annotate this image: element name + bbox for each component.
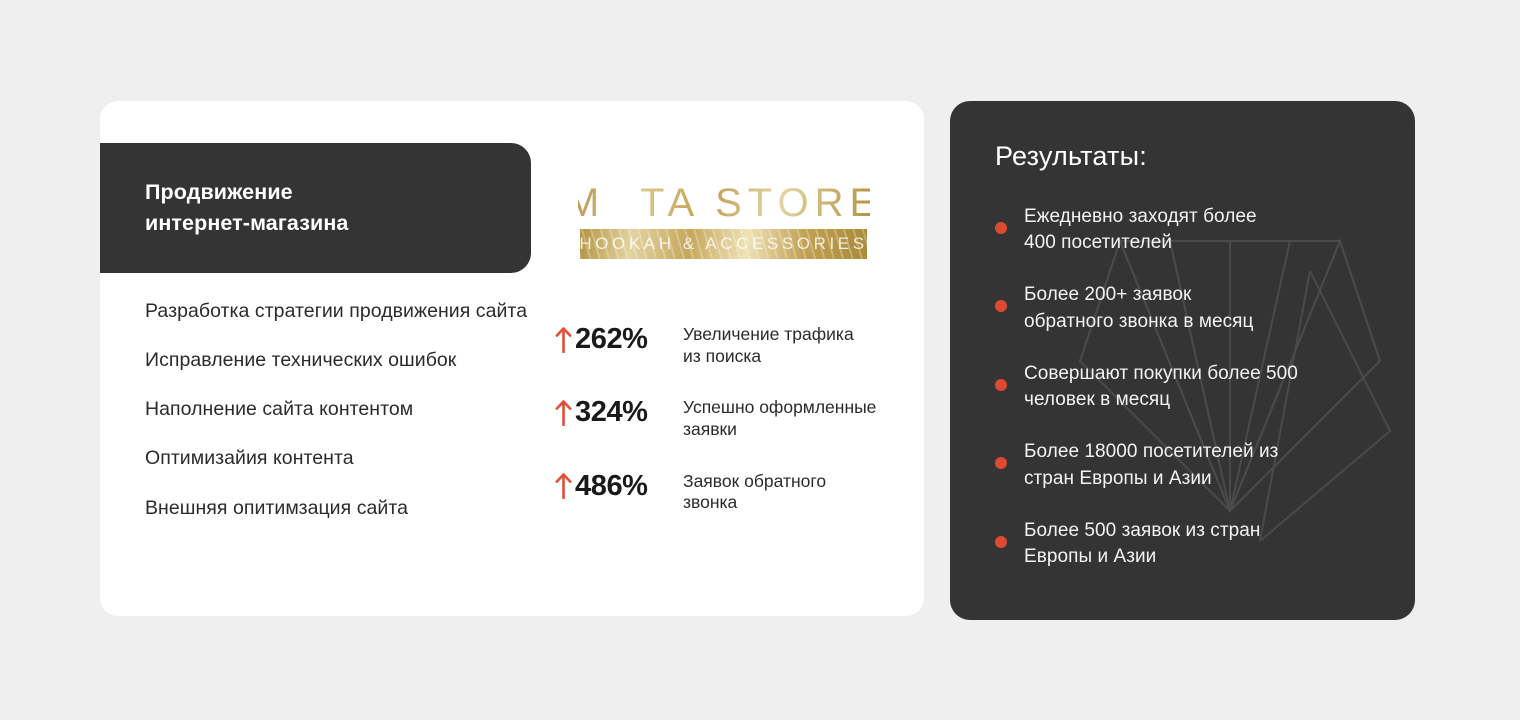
stat-figure: 262% xyxy=(555,323,683,354)
arrow-up-icon xyxy=(555,327,572,353)
stat-label: Увеличение трафика из поиска xyxy=(683,323,854,367)
case-header-title: Продвижение интернет-магазина xyxy=(100,177,368,238)
logo-gold-band: HOOKAH & ACCESSORIES xyxy=(580,229,867,259)
logo-letter-m: M xyxy=(566,181,605,226)
stat-value: 262% xyxy=(575,325,648,354)
stat-value: 486% xyxy=(575,472,648,501)
result-text: Ежедневно заходят более 400 посетителей xyxy=(1024,204,1257,256)
list-item: Совершают покупки более 500 человек в ме… xyxy=(995,361,1385,413)
bullet-dot-icon xyxy=(995,457,1007,469)
bullet-dot-icon xyxy=(995,536,1007,548)
list-item: Исправление технических ошибок xyxy=(145,348,545,373)
logo-letters-rest: TA STORE xyxy=(640,181,882,226)
results-panel: Результаты: Ежедневно заходят более 400 … xyxy=(950,101,1415,620)
bullet-dot-icon xyxy=(995,300,1007,312)
list-item: Более 18000 посетителей из стран Европы … xyxy=(995,439,1385,491)
stat-row: 486% Заявок обратного звонка xyxy=(555,470,915,514)
list-item: Более 200+ заявок обратного звонка в мес… xyxy=(995,282,1385,334)
stat-figure: 486% xyxy=(555,470,683,501)
case-header-banner: Продвижение интернет-магазина xyxy=(100,143,531,273)
arrow-up-icon xyxy=(555,400,572,426)
stat-label: Успешно оформленные заявки xyxy=(683,396,876,440)
services-list: Разработка стратегии продвижения сайта И… xyxy=(145,299,545,521)
list-item: Более 500 заявок из стран Европы и Азии xyxy=(995,518,1385,570)
results-title: Результаты: xyxy=(995,141,1147,172)
logo-letter-r-flipped: R xyxy=(605,181,640,226)
list-item: Внешняя опитимзация сайта xyxy=(145,496,545,521)
list-item: Разработка стратегии продвижения сайта xyxy=(145,299,545,324)
result-text: Более 18000 посетителей из стран Европы … xyxy=(1024,439,1278,491)
stat-row: 324% Успешно оформленные заявки xyxy=(555,396,915,440)
bullet-dot-icon xyxy=(995,379,1007,391)
stat-label: Заявок обратного звонка xyxy=(683,470,826,514)
stat-figure: 324% xyxy=(555,396,683,427)
list-item: Наполнение сайта контентом xyxy=(145,397,545,422)
bullet-dot-icon xyxy=(995,222,1007,234)
case-study-card: Продвижение интернет-магазина Разработка… xyxy=(100,101,924,616)
results-list: Ежедневно заходят более 400 посетителей … xyxy=(995,204,1385,570)
list-item: Оптимизайия контента xyxy=(145,446,545,471)
stat-value: 324% xyxy=(575,398,648,427)
stat-row: 262% Увеличение трафика из поиска xyxy=(555,323,915,367)
result-text: Совершают покупки более 500 человек в ме… xyxy=(1024,361,1298,413)
arrow-up-icon xyxy=(555,473,572,499)
result-text: Более 200+ заявок обратного звонка в мес… xyxy=(1024,282,1253,334)
result-text: Более 500 заявок из стран Европы и Азии xyxy=(1024,518,1260,570)
list-item: Ежедневно заходят более 400 посетителей xyxy=(995,204,1385,256)
logo-wordmark: MRTA STORE xyxy=(578,175,870,231)
logo-tagline: HOOKAH & ACCESSORIES xyxy=(579,234,867,254)
client-logo: MRTA STORE HOOKAH & ACCESSORIES xyxy=(578,175,870,267)
stats-list: 262% Увеличение трафика из поиска 324% У… xyxy=(555,323,915,514)
